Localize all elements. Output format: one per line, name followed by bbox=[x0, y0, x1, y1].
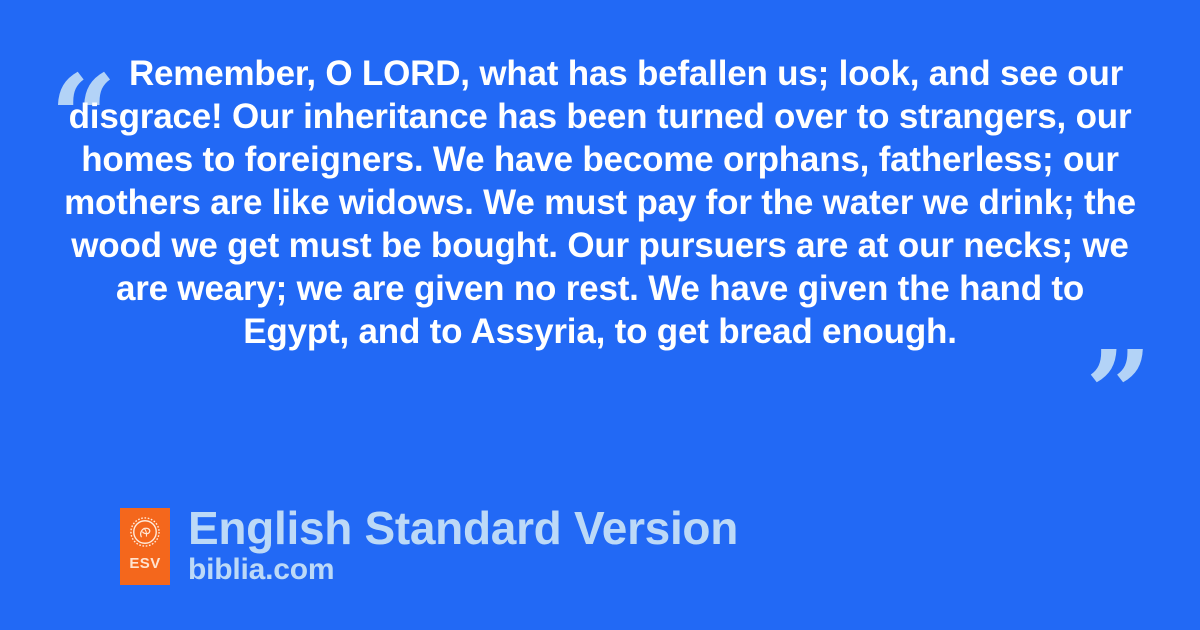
site-url[interactable]: biblia.com bbox=[188, 554, 738, 586]
attribution: ESV English Standard Version biblia.com bbox=[120, 508, 738, 586]
quote-card: “ Remember, O LORD, what has befallen us… bbox=[0, 0, 1200, 630]
bible-version-name: English Standard Version bbox=[188, 504, 738, 552]
esv-seal-icon bbox=[130, 517, 160, 547]
esv-logo-badge: ESV bbox=[120, 508, 170, 585]
attribution-text: English Standard Version biblia.com bbox=[188, 508, 738, 586]
quote-block: “ Remember, O LORD, what has befallen us… bbox=[0, 44, 1200, 424]
quote-text: Remember, O LORD, what has befallen us; … bbox=[60, 52, 1140, 353]
esv-abbrev-label: ESV bbox=[129, 556, 160, 571]
closing-quote-mark: ” bbox=[1085, 336, 1152, 452]
